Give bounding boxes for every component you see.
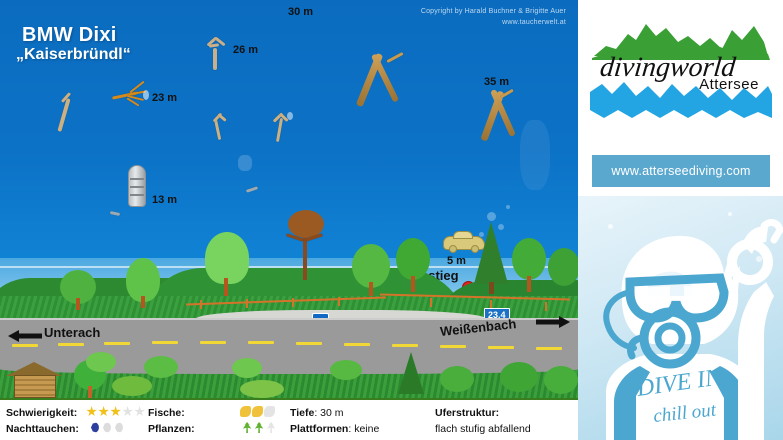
bush: [440, 366, 474, 392]
depth-row: Tiefe: 30 m: [290, 405, 430, 421]
depth-label-13m: 13 m: [152, 194, 177, 206]
road-dash: [12, 344, 38, 347]
road-dash: [200, 341, 226, 344]
fish-label: Fische:: [148, 407, 185, 419]
bush: [240, 380, 284, 398]
moon-icon: [88, 422, 99, 433]
bush: [144, 356, 178, 378]
copyright-notice: Copyright by Harald Buchner & Brigitte A…: [421, 6, 566, 28]
plant-icon: [242, 422, 253, 433]
platforms-label: Plattformen: [290, 423, 348, 435]
platforms-row: Plattformen: keine: [290, 421, 430, 437]
fish-icon: [264, 406, 275, 417]
bubble: [608, 224, 613, 229]
copyright-line-1: Copyright by Harald Buchner & Brigitte A…: [421, 6, 566, 17]
site-subtitle: „Kaiserbründl“: [16, 46, 131, 64]
difficulty-stars: [86, 405, 146, 421]
shore-structure-label: Uferstruktur:: [435, 407, 499, 419]
depth-label-5m: 5 m: [447, 255, 466, 267]
guardrail-post: [430, 298, 432, 307]
star-icon: [86, 406, 97, 417]
fish-row: Fische:: [148, 405, 298, 421]
moon-icon: [112, 422, 123, 433]
bubble: [238, 155, 252, 171]
info-col-shore: Uferstruktur: flach stufig abfallend: [435, 405, 580, 437]
road-dash: [58, 343, 84, 346]
moon-icon: [100, 422, 111, 433]
site-title: BMW Dixi: [22, 24, 117, 47]
dive-site-map: Copyright by Harald Buchner & Brigitte A…: [0, 0, 578, 398]
road-dash: [104, 342, 130, 345]
road-dash: [440, 345, 466, 348]
fish-icon: [240, 406, 251, 417]
plant-icon: [254, 422, 265, 433]
road-dash: [344, 343, 370, 346]
bubble: [506, 205, 510, 209]
copyright-line-2: www.taucherwelt.at: [421, 17, 566, 28]
sidebar-panel: divingworld Attersee www.atterseediving.…: [578, 0, 783, 440]
depth-value: 30 m: [320, 407, 343, 419]
plants-row: Pflanzen:: [148, 421, 298, 437]
star-icon: [134, 406, 145, 417]
bush: [86, 352, 116, 372]
guardrail-post: [545, 302, 547, 311]
depth-label-30m: 30 m: [288, 6, 313, 18]
bubble: [287, 112, 293, 120]
guardrail-post: [292, 298, 294, 307]
road-dash: [536, 347, 562, 350]
bubble: [756, 256, 762, 262]
road-dash: [248, 341, 274, 344]
road-dash: [152, 341, 178, 344]
bubble: [728, 212, 732, 216]
star-icon: [98, 406, 109, 417]
plants-label: Pflanzen:: [148, 423, 195, 435]
arrow-left-icon: [8, 328, 42, 344]
bubble: [487, 212, 496, 221]
dive-site-map-page: Copyright by Harald Buchner & Brigitte A…: [0, 0, 783, 440]
star-icon: [122, 406, 133, 417]
fish-icon: [252, 406, 263, 417]
info-col-depth: Tiefe: 30 m Plattformen: keine: [290, 405, 430, 437]
depth-label-35m: 35 m: [484, 76, 509, 88]
fish-icons: [240, 405, 276, 421]
sunken-boat-13m: [128, 165, 146, 207]
diver-illustration: DIVE IN chill out: [578, 196, 783, 440]
silt-cloud: [520, 120, 550, 190]
arrow-right-icon: [536, 314, 570, 330]
plant-icon: [266, 422, 277, 433]
bubble: [143, 90, 149, 100]
guardrail-post: [338, 297, 340, 306]
road-dash: [488, 346, 514, 349]
night-dive-moons: [88, 421, 124, 437]
logo-water-icon: [590, 78, 772, 120]
star-icon: [110, 406, 121, 417]
depth-label-26m: 26 m: [233, 44, 258, 56]
dive-info-bar: Schwierigkeit: Nachttauchen: Fische: Pfl…: [0, 398, 578, 440]
bush: [330, 360, 362, 380]
bush: [112, 376, 152, 396]
website-url-banner[interactable]: www.atterseediving.com: [592, 155, 770, 187]
guardrail-post: [246, 299, 248, 308]
plant-icons: [242, 421, 278, 437]
diver-figure-icon: DIVE IN chill out: [578, 196, 783, 440]
info-col-nature: Fische: Pflanzen:: [148, 405, 298, 437]
difficulty-label: Schwierigkeit:: [6, 407, 77, 419]
depth-label-23m: 23 m: [152, 92, 177, 104]
platforms-value: keine: [354, 423, 379, 435]
bush: [500, 362, 538, 392]
bush: [232, 358, 262, 378]
depth-label: Tiefe: [290, 407, 314, 419]
direction-label-left: Unterach: [44, 325, 100, 340]
night-dive-label: Nachttauchen:: [6, 423, 79, 435]
road-dash: [392, 344, 418, 347]
divingworld-logo[interactable]: divingworld Attersee: [578, 0, 783, 128]
guardrail-post: [200, 300, 202, 309]
road-dash: [296, 342, 322, 345]
bush: [544, 366, 578, 394]
shore-structure-value: flach stufig abfallend: [435, 421, 580, 437]
